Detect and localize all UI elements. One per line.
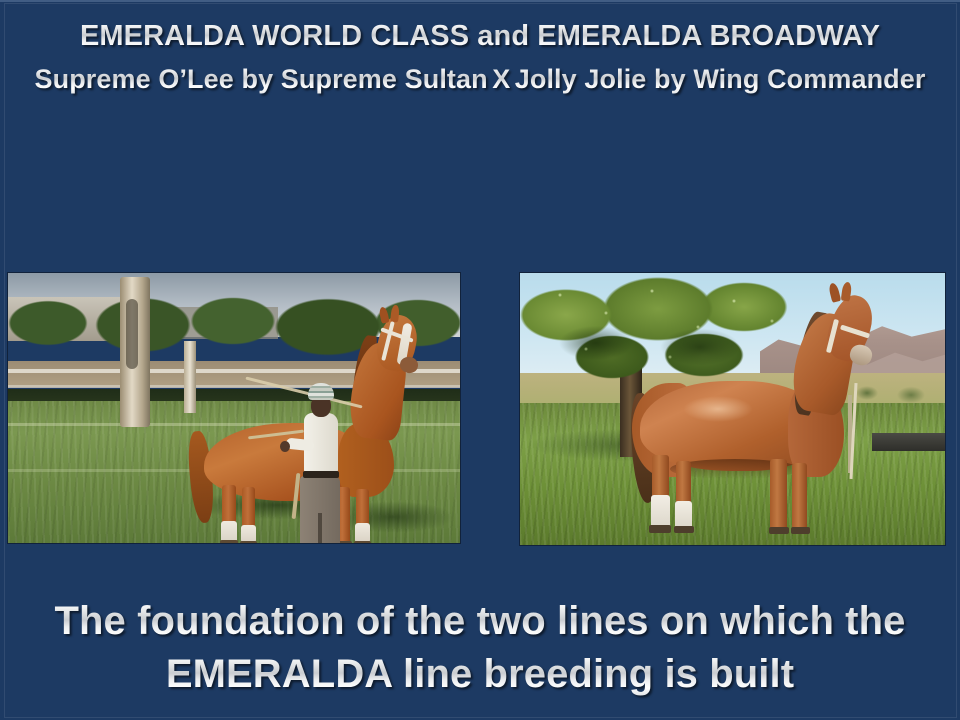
mare-hoof-3 xyxy=(769,527,789,534)
handler-hand xyxy=(280,441,290,452)
title-line-3-cross: X xyxy=(492,62,510,96)
photo-mare-in-pasture xyxy=(520,273,945,545)
title-block: EMERALDA WORLD CLASS and EMERALDA BROADW… xyxy=(0,18,960,96)
slide-canvas: EMERALDA WORLD CLASS and EMERALDA BROADW… xyxy=(0,0,960,720)
mare-white-sock-1 xyxy=(651,495,670,529)
caption-line-1: The foundation of the two lines on which… xyxy=(54,596,905,646)
mare-hoof-1 xyxy=(649,525,671,533)
title-line-1: EMERALDA WORLD CLASS and EMERALDA BROADW… xyxy=(80,18,880,54)
stallion-hoof-1 xyxy=(220,540,238,543)
mare-fore-leg-near xyxy=(792,463,807,529)
stallion-hoof-4 xyxy=(354,541,371,543)
photo-stallion-with-handler xyxy=(8,273,460,543)
caption-line-2: EMERALDA line breeding is built xyxy=(166,649,794,699)
leaf-highlights xyxy=(520,273,820,393)
mare-white-sock-2 xyxy=(675,501,692,529)
mare-fore-leg-far xyxy=(770,459,787,531)
stallion-white-sock-3 xyxy=(355,523,370,543)
title-line-4: Jolly Jolie by Wing Commander xyxy=(515,62,926,96)
handler-belt xyxy=(303,471,339,478)
water-trough xyxy=(872,433,945,451)
mare-coat-highlight xyxy=(670,391,766,427)
handler-striped-cap xyxy=(308,383,334,400)
stallion-hoof-2 xyxy=(240,541,257,543)
eucalyptus-trunk-shadow xyxy=(126,299,138,369)
eucalyptus-trunk-secondary xyxy=(184,341,196,413)
caption-block: The foundation of the two lines on which… xyxy=(0,596,960,699)
mare-hoof-4 xyxy=(791,527,810,534)
slide-top-accent-line xyxy=(0,0,960,2)
handler-trouser-split xyxy=(318,513,322,543)
mare-hoof-2 xyxy=(674,526,694,533)
title-line-2: Supreme O’Lee by Supreme Sultan xyxy=(35,62,488,96)
